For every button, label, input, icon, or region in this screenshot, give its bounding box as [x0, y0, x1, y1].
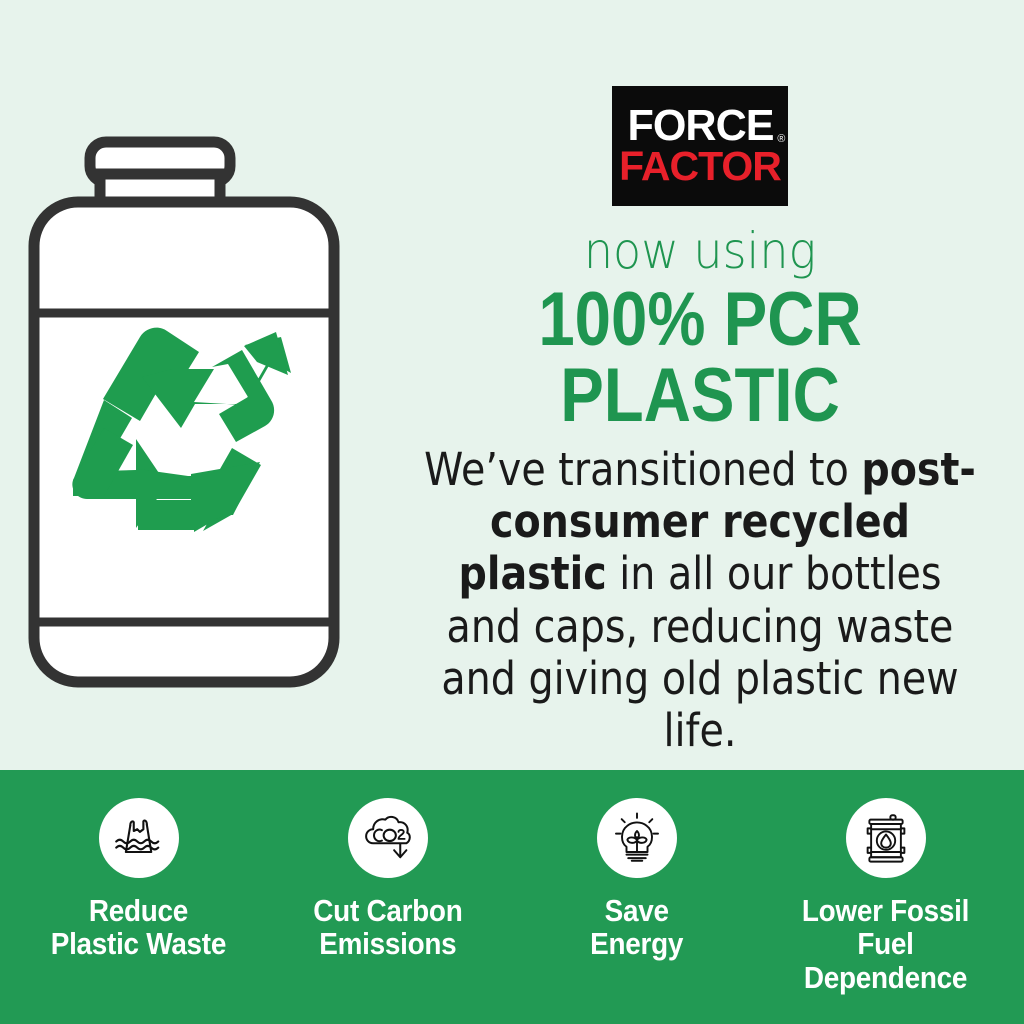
benefit-item-lower-fossil-fuel-dependence: Lower Fossil Fuel Dependence: [761, 798, 1010, 994]
bottle-illustration: [28, 128, 364, 700]
oil-barrel-droplet-icon: [858, 810, 914, 866]
body-copy-part1: We’ve transitioned to: [424, 443, 861, 496]
benefit-icon-circle: [348, 798, 428, 878]
benefit-icon-circle: [846, 798, 926, 878]
benefits-band: Reduce Plastic Waste Cut Carbon Emission…: [0, 770, 1024, 1024]
brand-logo-wrap: FORCE® FACTOR: [380, 86, 1020, 206]
hero-text-column: FORCE® FACTOR now using 100% PCR PLASTIC…: [380, 86, 1020, 757]
benefit-label: Reduce Plastic Waste: [51, 894, 226, 961]
bottle-svg: [28, 128, 364, 700]
plastic-bag-in-water-icon: [111, 810, 167, 866]
body-copy: We’ve transitioned to post-consumer recy…: [418, 444, 981, 757]
lightbulb-sprout-icon: [609, 810, 665, 866]
logo-text-force: FORCE®: [627, 106, 773, 146]
eyebrow-text: now using: [406, 226, 995, 276]
benefit-icon-circle: [597, 798, 677, 878]
benefit-label: Cut Carbon Emissions: [313, 894, 462, 961]
pcr-plastic-promo-poster: FORCE® FACTOR now using 100% PCR PLASTIC…: [0, 0, 1024, 1024]
logo-registered-mark: ®: [777, 134, 784, 144]
logo-text-factor: FACTOR: [619, 147, 781, 186]
co2-cloud-down-arrow-icon: [360, 810, 416, 866]
benefit-label: Lower Fossil Fuel Dependence: [773, 894, 997, 994]
logo-force-word: FORCE: [627, 101, 773, 150]
benefit-item-cut-carbon-emissions: Cut Carbon Emissions: [263, 798, 512, 961]
force-factor-logo[interactable]: FORCE® FACTOR: [612, 86, 788, 206]
benefit-item-reduce-plastic-waste: Reduce Plastic Waste: [14, 798, 263, 961]
benefit-item-save-energy: Save Energy: [512, 798, 761, 961]
bottle-body: [34, 202, 334, 682]
benefit-label: Save Energy: [590, 894, 683, 961]
benefit-icon-circle: [99, 798, 179, 878]
page-title: 100% PCR PLASTIC: [425, 282, 975, 434]
